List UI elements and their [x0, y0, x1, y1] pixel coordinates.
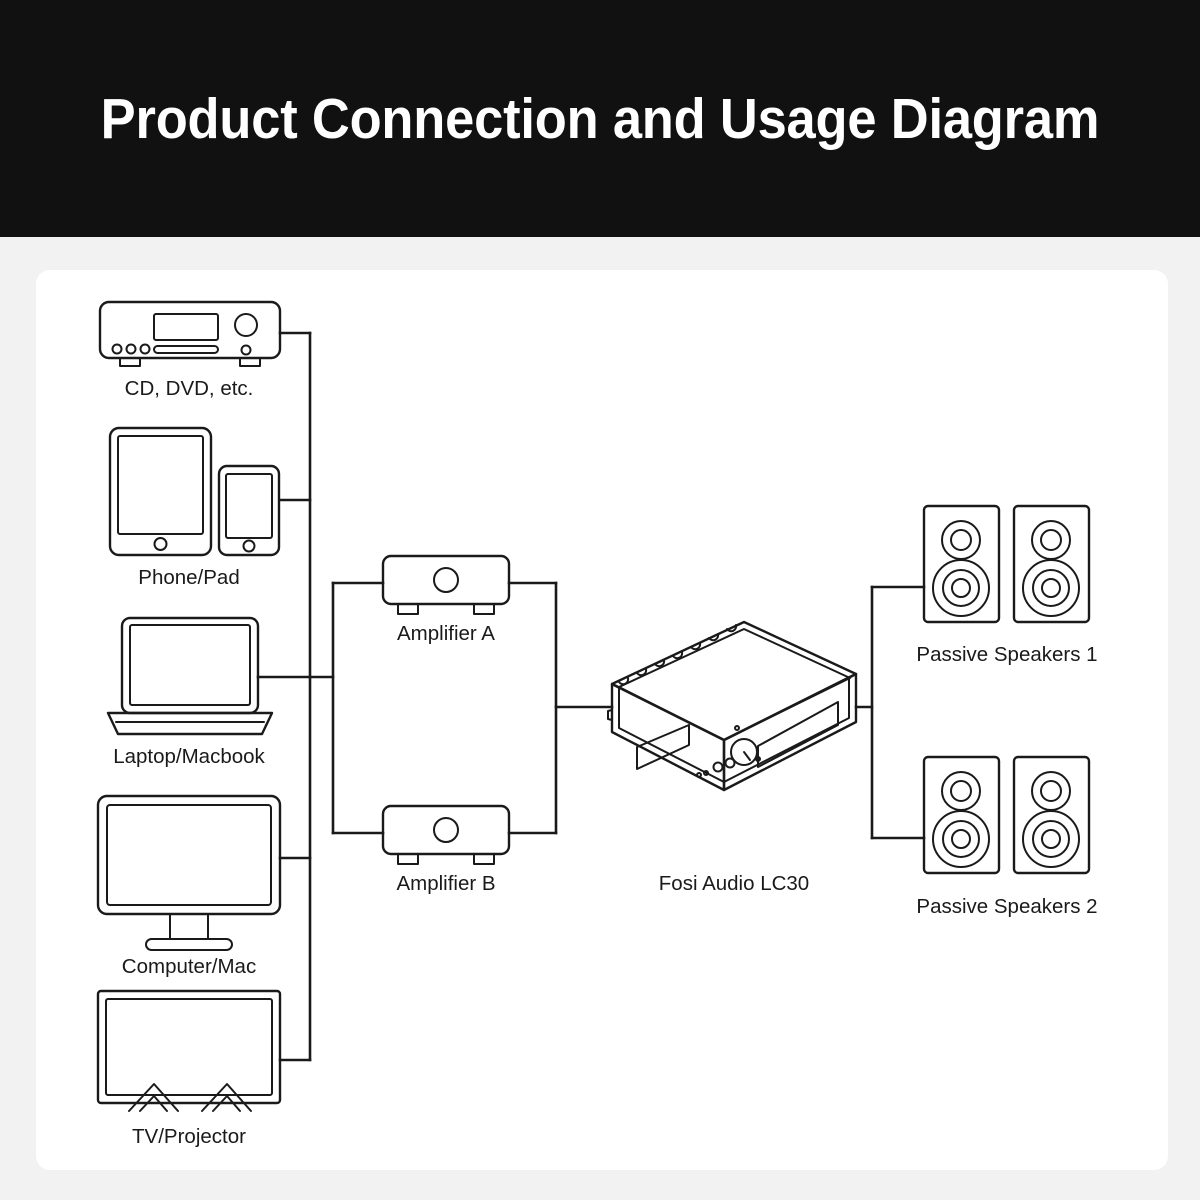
preamp-box-icon — [608, 622, 856, 790]
tablet-phone-icon — [110, 428, 279, 555]
source-laptop[interactable]: Laptop/Macbook — [108, 618, 272, 768]
header-bar: Product Connection and Usage Diagram — [0, 0, 1200, 237]
wires-amplifier-bracket-right — [509, 583, 612, 833]
amplifier-b[interactable]: Amplifier B — [383, 806, 509, 895]
wires-output-bracket — [856, 587, 924, 838]
output-speakers-2[interactable]: Passive Speakers 2 — [916, 757, 1097, 918]
connection-diagram: CD, DVD, etc. Phone/Pad — [36, 270, 1168, 1170]
amplifier-icon — [383, 556, 509, 614]
source-label-tv-projector: TV/Projector — [132, 1125, 246, 1148]
wires-amplifier-bracket-left — [310, 583, 383, 833]
page-title: Product Connection and Usage Diagram — [48, 0, 1152, 237]
output-label-speakers-2: Passive Speakers 2 — [916, 895, 1097, 918]
page-root: Product Connection and Usage Diagram — [0, 0, 1200, 1200]
source-cd-dvd[interactable]: CD, DVD, etc. — [100, 302, 280, 400]
speaker-pair-icon — [924, 506, 1089, 622]
amplifier-label-a: Amplifier A — [397, 622, 495, 645]
amplifier-a[interactable]: Amplifier A — [383, 556, 509, 645]
monitor-icon — [98, 796, 280, 950]
amplifier-label-b: Amplifier B — [396, 872, 495, 895]
cd-player-icon — [100, 302, 280, 366]
source-label-cd-dvd: CD, DVD, etc. — [125, 377, 254, 400]
wires-left-bus — [258, 333, 310, 1060]
amplifier-icon — [383, 806, 509, 864]
device-label-fosi-lc30: Fosi Audio LC30 — [659, 872, 809, 895]
laptop-icon — [108, 618, 272, 734]
source-label-laptop: Laptop/Macbook — [113, 745, 265, 768]
source-computer[interactable]: Computer/Mac — [98, 796, 280, 978]
diagram-card: CD, DVD, etc. Phone/Pad — [36, 270, 1168, 1170]
tv-icon — [98, 991, 280, 1111]
source-label-computer: Computer/Mac — [122, 955, 256, 978]
speaker-pair-icon — [924, 757, 1089, 873]
source-label-phone-pad: Phone/Pad — [138, 566, 239, 589]
output-speakers-1[interactable]: Passive Speakers 1 — [916, 506, 1097, 666]
source-phone-pad[interactable]: Phone/Pad — [110, 428, 279, 589]
output-label-speakers-1: Passive Speakers 1 — [916, 643, 1097, 666]
source-tv-projector[interactable]: TV/Projector — [98, 991, 280, 1148]
device-fosi-lc30[interactable]: Fosi Audio LC30 — [608, 622, 856, 895]
